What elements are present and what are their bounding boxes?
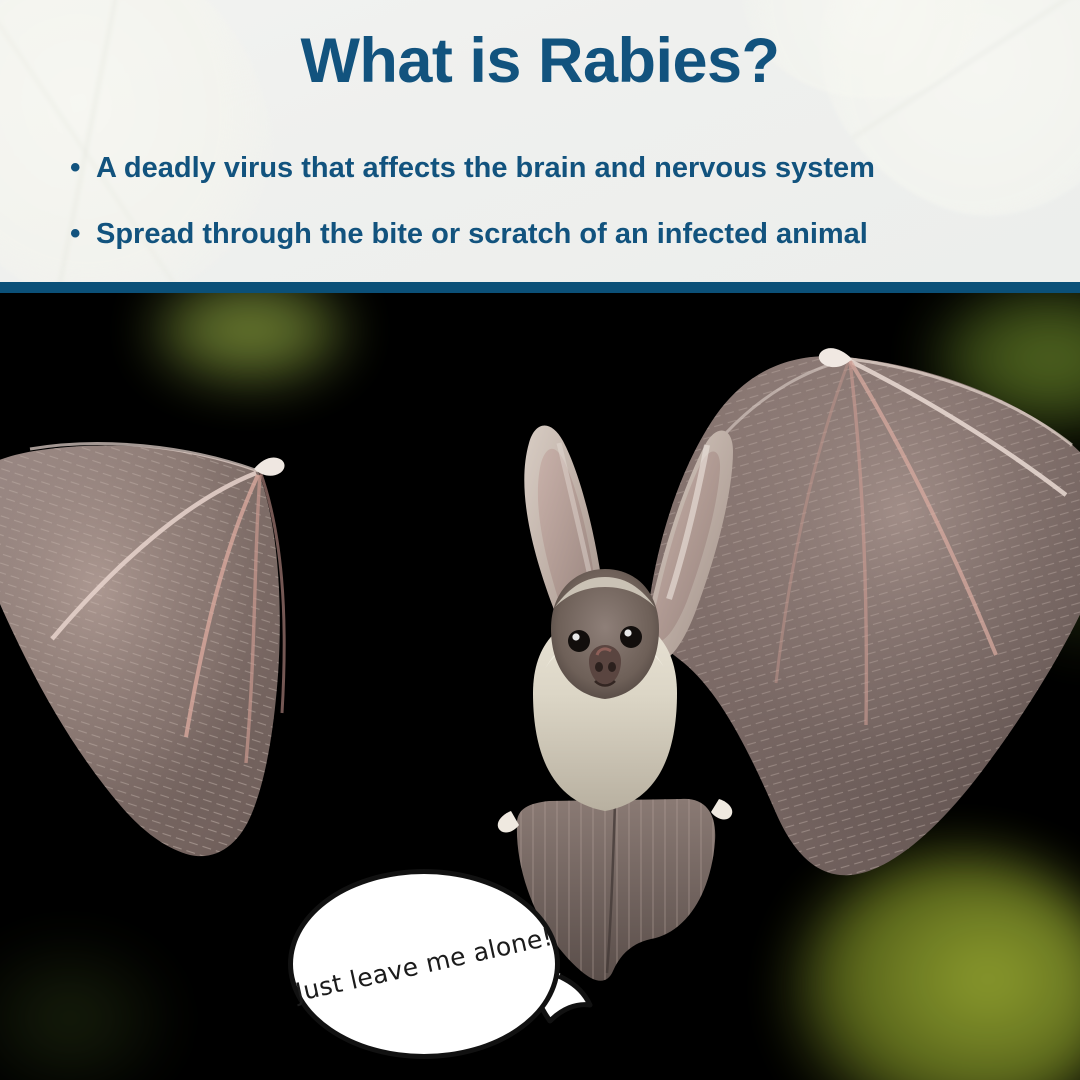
bullet-text: A deadly virus that affects the brain an… [96,150,1030,186]
bullet-list: • A deadly virus that affects the brain … [70,150,1030,282]
list-item: • Spread through the bite or scratch of … [70,216,1030,252]
speech-bubble: Just leave me alone! [288,869,560,1059]
rabies-infographic-poster: What is Rabies? • A deadly virus that af… [0,0,1080,1080]
bat-left-wing [0,413,530,933]
speech-bubble-text: Just leave me alone! [271,842,578,1080]
header-panel: What is Rabies? • A deadly virus that af… [0,0,1080,282]
bullet-marker-icon: • [70,216,96,252]
bokeh-highlight-bottom-left [0,933,180,1080]
bat-photo: Just leave me alone! [0,293,1080,1080]
bokeh-highlight-top-left [150,293,350,385]
list-item: • A deadly virus that affects the brain … [70,150,1030,186]
bullet-text: Spread through the bite or scratch of an… [96,216,1030,252]
page-title: What is Rabies? [0,30,1080,93]
bullet-marker-icon: • [70,150,96,186]
header-divider [0,282,1080,293]
